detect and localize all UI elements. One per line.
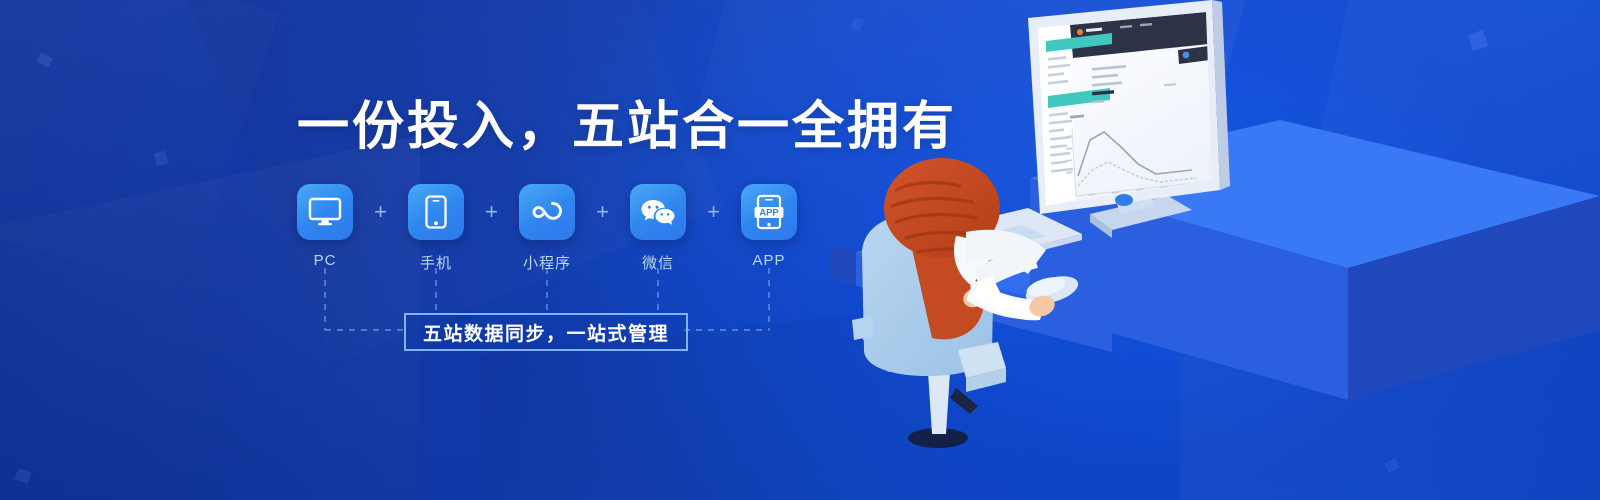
pc-tile[interactable] bbox=[297, 184, 353, 240]
wechat-icon bbox=[640, 197, 676, 227]
platform-label: 小程序 bbox=[523, 252, 571, 273]
separator-plus-4: + bbox=[686, 184, 741, 240]
wechat-tile[interactable] bbox=[630, 184, 686, 240]
platform-label: 微信 bbox=[642, 252, 674, 273]
miniprogram-tile[interactable] bbox=[519, 184, 575, 240]
separator-plus-3: + bbox=[575, 184, 630, 240]
platform-item-wechat[interactable]: 微信 bbox=[630, 184, 686, 273]
ribbon-label: 五站数据同步，一站式管理 bbox=[423, 319, 669, 346]
mini-program-icon bbox=[530, 196, 564, 228]
platform-item-pc[interactable]: PC bbox=[297, 184, 353, 269]
person-at-desk-illustration bbox=[760, 0, 1600, 500]
separator-plus-2: + bbox=[464, 184, 519, 240]
platform-label: PC bbox=[314, 252, 337, 269]
platform-label: 手机 bbox=[420, 252, 452, 273]
status-badge: 五站数据同步，一站式管理 bbox=[404, 313, 688, 351]
platform-icon-row: PC + 手机 + 小程序 + bbox=[297, 184, 797, 273]
platform-item-mobile[interactable]: 手机 bbox=[408, 184, 464, 273]
mobile-tile[interactable] bbox=[408, 184, 464, 240]
mobile-phone-icon bbox=[425, 195, 447, 229]
monitor-icon bbox=[308, 197, 342, 227]
platform-item-miniprogram[interactable]: 小程序 bbox=[519, 184, 575, 273]
separator-plus-1: + bbox=[353, 184, 408, 240]
promo-banner: 一份投入，五站合一全拥有 PC + bbox=[0, 0, 1600, 500]
